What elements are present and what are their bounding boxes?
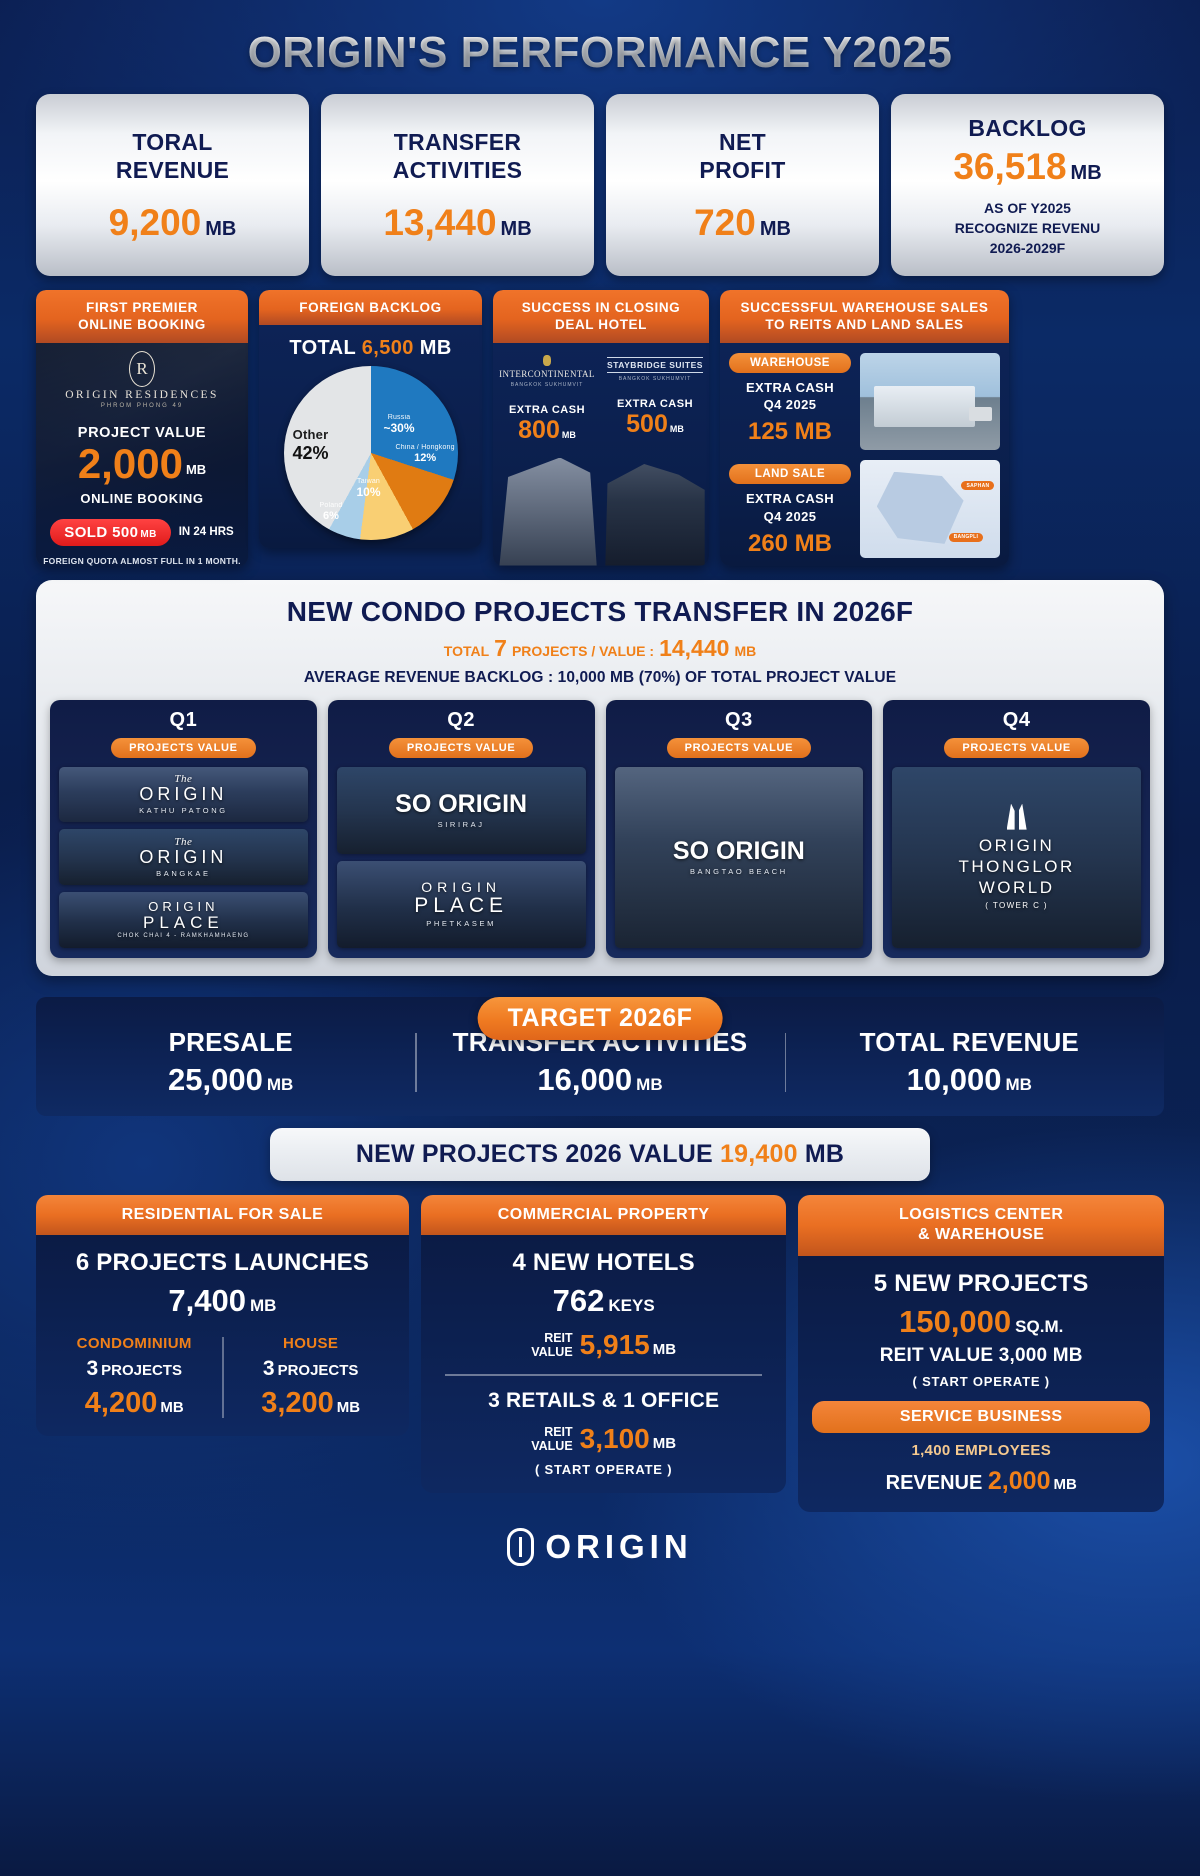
origin-logo-icon <box>507 1528 534 1566</box>
residential-house: HOUSE 3PROJECTS 3,200MB <box>222 1335 398 1420</box>
target-label: TOTAL REVENUE <box>785 1027 1154 1058</box>
logistics-number: 150,000 <box>899 1304 1011 1339</box>
segment-label: HOUSE <box>222 1335 398 1352</box>
condo-total-projects: 7 <box>494 635 507 661</box>
column-body: 5 NEW PROJECTS 150,000SQ.M. REIT VALUE 3… <box>798 1256 1164 1512</box>
project-main-name: SO ORIGIN <box>673 838 805 864</box>
quarter-title: Q4 <box>892 709 1141 732</box>
footer-brand-name: ORIGIN <box>545 1528 692 1566</box>
target-unit: MB <box>267 1075 293 1094</box>
project-image-list: ORIGIN THONGLOR WORLD ( TOWER C ) <box>892 767 1141 948</box>
hotel-building-photo <box>601 458 709 566</box>
pie-total-unit: MB <box>420 337 452 359</box>
pie-label-russia: Russia ~30% <box>384 414 415 435</box>
kpi-number: 9,200 <box>109 202 202 243</box>
kpi-card-transfer-activities: TRANSFER ACTIVITIES 13,440MB <box>321 94 594 276</box>
residential-unit: MB <box>250 1296 276 1315</box>
kpi-label-line1: TORAL <box>44 128 301 156</box>
logo-crest-icon <box>543 355 551 366</box>
reit-label: REIT VALUE <box>531 1331 572 1359</box>
column-logistics-warehouse: LOGISTICS CENTER & WAREHOUSE 5 NEW PROJE… <box>798 1195 1164 1513</box>
pie-label-taiwan: Taiwan 10% <box>357 478 381 499</box>
extra-cash-number: 800 <box>518 416 560 444</box>
card-header: FIRST PREMIER ONLINE BOOKING <box>36 290 248 343</box>
segment-value: 3,200MB <box>222 1387 398 1420</box>
project-name: SO ORIGIN BANGTAO BEACH <box>673 838 805 875</box>
kpi-sub-line2: RECOGNIZE REVENU <box>899 218 1156 238</box>
quarter-card-q1: Q1 PROJECTS VALUE The ORIGIN KATHU PATON… <box>50 700 317 958</box>
keys-number: 762 <box>553 1283 605 1318</box>
card-footnote: FOREIGN QUOTA ALMOST FULL IN 1 MONTH. <box>36 556 248 566</box>
online-booking-label: ONLINE BOOKING <box>36 491 248 506</box>
target-pill: TARGET 2026F <box>478 997 723 1040</box>
reit-label-line2: VALUE <box>531 1345 572 1359</box>
commercial-main-text: 4 NEW HOTELS <box>431 1249 777 1277</box>
service-revenue: REVENUE 2,000MB <box>808 1467 1154 1496</box>
divider <box>445 1374 763 1376</box>
reit-value: 3,100MB <box>580 1423 676 1455</box>
extra-cash-text: EXTRA CASH <box>729 490 851 508</box>
kpi-label: NET PROFIT <box>614 128 871 184</box>
map-pin-label-2: BANGPLI <box>949 533 984 542</box>
service-revenue-number: 2,000 <box>988 1467 1051 1495</box>
infographic-page: ORIGIN'S PERFORMANCE Y2025 TORAL REVENUE… <box>0 0 1200 1876</box>
banner-text: NEW PROJECTS 2026 VALUE <box>356 1140 713 1168</box>
card-body: ORIGIN RESIDENCES PHROM PHONG 49 PROJECT… <box>36 343 248 566</box>
reit-label-line1: REIT <box>531 1425 572 1439</box>
projects-value-pill[interactable]: PROJECTS VALUE <box>111 738 256 758</box>
origin-mark-icon <box>1006 804 1028 830</box>
project-main-name: ORIGIN <box>139 848 227 867</box>
kpi-row: TORAL REVENUE 9,200MB TRANSFER ACTIVITIE… <box>24 94 1176 276</box>
reit-label: REIT VALUE <box>531 1425 572 1453</box>
kpi-label: BACKLOG <box>899 114 1156 142</box>
warehouse-photos: SAPHAN BANGPLI <box>860 353 1000 558</box>
project-main-name: ORIGIN <box>117 900 249 914</box>
segment-project-word: PROJECTS <box>278 1362 359 1379</box>
project-name: ORIGIN THONGLOR WORLD ( TOWER C ) <box>958 804 1074 911</box>
logistics-main-text: 5 NEW PROJECTS <box>808 1270 1154 1298</box>
project-main-name-3: WORLD <box>958 877 1074 898</box>
target-value: 25,000MB <box>46 1062 415 1098</box>
target-number: 10,000 <box>907 1062 1002 1097</box>
project-name: The ORIGIN BANGKAE <box>139 836 227 878</box>
column-residential-for-sale: RESIDENTIAL FOR SALE 6 PROJECTS LAUNCHES… <box>36 1195 409 1437</box>
commercial-keys: 762KEYS <box>431 1283 777 1319</box>
banner-unit: MB <box>805 1140 844 1168</box>
project-card[interactable]: ORIGIN PLACE CHOK CHAI 4 - RAMKHAMHAENG <box>59 892 308 948</box>
project-location: SIRIRAJ <box>395 820 527 829</box>
residential-split: CONDOMINIUM 3PROJECTS 4,200MB HOUSE 3PRO… <box>46 1335 399 1420</box>
condo-section-subtitle: TOTAL 7 PROJECTS / VALUE : 14,440 MB <box>50 635 1150 662</box>
pie-label-poland: Poland 6% <box>320 502 343 522</box>
warehouse-tag: WAREHOUSE <box>729 353 851 373</box>
service-revenue-unit: MB <box>1053 1476 1076 1493</box>
commercial-reit-hotels: REIT VALUE 5,915MB <box>431 1329 777 1361</box>
extra-cash-period: Q4 2025 <box>729 396 851 414</box>
pie-total-label: TOTAL <box>289 337 355 359</box>
warehouse-block: WAREHOUSE EXTRA CASH Q4 2025 125 MB <box>729 353 851 446</box>
column-header-line2: & WAREHOUSE <box>804 1225 1158 1246</box>
card-header-line2: TO REITS AND LAND SALES <box>726 316 1003 333</box>
target-value: 10,000MB <box>785 1062 1154 1098</box>
residential-value: 7,400MB <box>46 1283 399 1319</box>
kpi-label: TRANSFER ACTIVITIES <box>329 128 586 184</box>
extra-cash-unit: MB <box>670 424 684 434</box>
hotel-intercontinental: INTERCONTINENTAL BANGKOK SUKHUMVIT EXTRA… <box>493 343 601 566</box>
foreign-backlog-pie-chart: Russia ~30% China / Hongkong 12% Taiwan … <box>284 366 458 540</box>
target-value: 16,000MB <box>415 1062 784 1098</box>
map-pin-label-1: SAPHAN <box>961 481 994 490</box>
projects-value-pill[interactable]: PROJECTS VALUE <box>944 738 1089 758</box>
target-column-total-revenue: TOTAL REVENUE 10,000MB <box>785 1027 1154 1098</box>
card-foreign-backlog: FOREIGN BACKLOG TOTAL 6,500 MB Russia ~3… <box>259 290 482 548</box>
kpi-sub-line1: AS OF Y2025 <box>899 198 1156 218</box>
kpi-label-line2: REVENUE <box>44 156 301 184</box>
card-header-line1: SUCCESS IN CLOSING <box>499 299 703 316</box>
commercial-reit-retail: REIT VALUE 3,100MB <box>431 1423 777 1455</box>
condo-backlog-note: AVERAGE REVENUE BACKLOG : 10,000 MB (70%… <box>50 669 1150 687</box>
extra-cash-text: EXTRA CASH <box>729 379 851 397</box>
kpi-card-backlog: BACKLOG 36,518MB AS OF Y2025 RECOGNIZE R… <box>891 94 1164 276</box>
project-main-name: ORIGIN <box>414 880 508 895</box>
sold-timeframe: IN 24 HRS <box>179 526 234 538</box>
hotel-building-photo <box>493 458 601 566</box>
quarter-card-q2: Q2 PROJECTS VALUE SO ORIGIN SIRIRAJ ORIG… <box>328 700 595 958</box>
segment-project-word: PROJECTS <box>101 1362 182 1379</box>
reit-number: 5,915 <box>580 1329 650 1360</box>
project-main-name-2: THONGLOR <box>958 856 1074 877</box>
card-header: SUCCESS IN CLOSING DEAL HOTEL <box>493 290 709 343</box>
kpi-value: 36,518MB <box>899 146 1156 188</box>
segment-unit: MB <box>337 1399 360 1416</box>
card-header: SUCCESSFUL WAREHOUSE SALES TO REITS AND … <box>720 290 1009 343</box>
sold-badge: SOLD 500MB <box>50 519 170 546</box>
warehouse-photo <box>860 353 1000 451</box>
reit-number: 3,100 <box>580 1423 650 1454</box>
project-card[interactable]: ORIGIN THONGLOR WORLD ( TOWER C ) <box>892 767 1141 948</box>
logistics-value: 150,000SQ.M. <box>808 1304 1154 1340</box>
card-header-line2: ONLINE BOOKING <box>42 316 242 333</box>
extra-cash-number: 500 <box>626 410 668 438</box>
banner-value: 19,400 <box>720 1140 798 1168</box>
project-main-name-2: PLACE <box>117 914 249 932</box>
extra-cash-label: EXTRA CASH <box>493 404 601 416</box>
service-business-pill: SERVICE BUSINESS <box>812 1401 1150 1433</box>
card-success-closing-deal-hotel: SUCCESS IN CLOSING DEAL HOTEL INTERCONTI… <box>493 290 709 566</box>
target-section: TARGET 2026F PRESALE 25,000MB TRANSFER A… <box>24 997 1176 1116</box>
project-card[interactable]: SO ORIGIN BANGTAO BEACH <box>615 767 864 948</box>
staybridge-logo-icon: STAYBRIDGE SUITES <box>607 357 703 373</box>
service-employees: 1,400 EMPLOYEES <box>808 1442 1154 1459</box>
project-name: ORIGIN PLACE CHOK CHAI 4 - RAMKHAMHAENG <box>117 900 249 939</box>
column-commercial-property: COMMERCIAL PROPERTY 4 NEW HOTELS 762KEYS… <box>421 1195 787 1493</box>
sold-row: SOLD 500MB IN 24 HRS <box>36 519 248 546</box>
card-body: WAREHOUSE EXTRA CASH Q4 2025 125 MB LAND… <box>720 343 1009 566</box>
target-unit: MB <box>636 1075 662 1094</box>
residential-number: 7,400 <box>168 1283 246 1318</box>
project-value-number: 2,000 <box>78 440 183 487</box>
segment-projects: 3PROJECTS <box>46 1357 222 1381</box>
kpi-label-line2: ACTIVITIES <box>329 156 586 184</box>
reit-label-line2: VALUE <box>531 1439 572 1453</box>
new-condo-projects-section: NEW CONDO PROJECTS TRANSFER IN 2026F TOT… <box>36 580 1164 976</box>
segment-label: CONDOMINIUM <box>46 1335 222 1352</box>
project-location: KATHU PATONG <box>139 806 228 815</box>
logistics-note: ( START OPERATE ) <box>808 1374 1154 1389</box>
pie-total: TOTAL 6,500 MB <box>259 337 482 360</box>
condo-section-title: NEW CONDO PROJECTS TRANSFER IN 2026F <box>50 596 1150 628</box>
extra-cash-value: 500MB <box>601 410 709 439</box>
column-header: COMMERCIAL PROPERTY <box>421 1195 787 1236</box>
footer-logo: ORIGIN <box>24 1528 1176 1566</box>
column-header: LOGISTICS CENTER & WAREHOUSE <box>798 1195 1164 1257</box>
land-sale-value: 260 MB <box>729 530 851 558</box>
kpi-number: 13,440 <box>383 202 496 243</box>
kpi-card-total-revenue: TORAL REVENUE 9,200MB <box>36 94 309 276</box>
project-card[interactable]: The ORIGIN BANGKAE <box>59 829 308 885</box>
extra-cash-label: EXTRA CASH Q4 2025 <box>729 490 851 525</box>
column-body: 4 NEW HOTELS 762KEYS REIT VALUE 5,915MB … <box>421 1235 787 1493</box>
card-header-line2: DEAL HOTEL <box>499 316 703 333</box>
card-body: TOTAL 6,500 MB Russia ~30% China / Hongk… <box>259 325 482 548</box>
quarter-title: Q3 <box>615 709 864 732</box>
pie-total-value: 6,500 <box>362 337 414 359</box>
target-column-presale: PRESALE 25,000MB <box>46 1027 415 1098</box>
kpi-label-line1: TRANSFER <box>329 128 586 156</box>
extra-cash-unit: MB <box>562 430 576 440</box>
hotel-brand-sub: BANGKOK SUKHUMVIT <box>601 376 709 382</box>
segment-project-count: 3 <box>86 1357 98 1380</box>
segment-number: 4,200 <box>85 1387 158 1419</box>
extra-cash-label: EXTRA CASH <box>601 398 709 410</box>
kpi-number: 720 <box>694 202 756 243</box>
kpi-label-line2: PROFIT <box>614 156 871 184</box>
landsale-block: LAND SALE EXTRA CASH Q4 2025 260 MB <box>729 464 851 557</box>
commercial-retails-office: 3 RETAILS & 1 OFFICE <box>431 1389 777 1413</box>
target-number: 16,000 <box>537 1062 632 1097</box>
quarter-card-row: Q1 PROJECTS VALUE The ORIGIN KATHU PATON… <box>50 700 1150 958</box>
kpi-subtext: AS OF Y2025 RECOGNIZE REVENU 2026-2029F <box>899 198 1156 259</box>
commercial-note: ( START OPERATE ) <box>431 1462 777 1477</box>
extra-cash-value: 800MB <box>493 416 601 445</box>
card-warehouse-reits-land-sales: SUCCESSFUL WAREHOUSE SALES TO REITS AND … <box>720 290 1009 566</box>
card-body: INTERCONTINENTAL BANGKOK SUKHUMVIT EXTRA… <box>493 343 709 566</box>
reit-unit: MB <box>653 1435 676 1452</box>
project-main-name: ORIGIN <box>139 785 228 804</box>
brand-name: ORIGIN RESIDENCES <box>36 389 248 401</box>
page-title: ORIGIN'S PERFORMANCE Y2025 <box>24 0 1176 78</box>
kpi-label-line1: NET <box>614 128 871 156</box>
warehouse-value: 125 MB <box>729 418 851 446</box>
segment-value: 4,200MB <box>46 1387 222 1420</box>
reit-unit: MB <box>653 1341 676 1358</box>
project-name: SO ORIGIN SIRIRAJ <box>395 791 527 828</box>
warehouse-stats: WAREHOUSE EXTRA CASH Q4 2025 125 MB LAND… <box>729 353 851 558</box>
card-header-line1: SUCCESSFUL WAREHOUSE SALES <box>726 299 1003 316</box>
condo-total-label: TOTAL <box>444 643 489 659</box>
project-card[interactable]: SO ORIGIN SIRIRAJ <box>337 767 586 854</box>
project-location: PHETKASEM <box>414 919 508 928</box>
sold-badge-label: SOLD 500 <box>64 524 138 541</box>
bottom-column-row: RESIDENTIAL FOR SALE 6 PROJECTS LAUNCHES… <box>36 1195 1164 1513</box>
project-main-name-2: PLACE <box>414 895 508 917</box>
kpi-sub-line3: 2026-2029F <box>899 238 1156 258</box>
brand-sublabel: PHROM PHONG 49 <box>36 403 248 409</box>
target-number: 25,000 <box>168 1062 263 1097</box>
new-projects-value-banner: NEW PROJECTS 2026 VALUE 19,400 MB <box>270 1128 930 1181</box>
condo-projects-word: PROJECTS / VALUE : <box>512 643 654 659</box>
project-main-name: SO ORIGIN <box>395 791 527 817</box>
segment-number: 3,200 <box>261 1387 334 1419</box>
project-image-list: The ORIGIN KATHU PATONG The ORIGIN BANGK… <box>59 767 308 948</box>
quarter-title: Q1 <box>59 709 308 732</box>
hotel-brand-name: INTERCONTINENTAL <box>499 369 595 379</box>
segment-projects: 3PROJECTS <box>222 1357 398 1381</box>
reit-value: 5,915MB <box>580 1329 676 1361</box>
land-sale-tag: LAND SALE <box>729 464 851 484</box>
service-revenue-label: REVENUE <box>886 1472 983 1494</box>
project-location: BANGKAE <box>139 869 227 878</box>
project-image-list: SO ORIGIN BANGTAO BEACH <box>615 767 864 948</box>
column-header-line1: LOGISTICS CENTER <box>804 1205 1158 1226</box>
project-tower-label: ( TOWER C ) <box>958 901 1074 910</box>
sold-badge-unit: MB <box>140 529 156 540</box>
project-card[interactable]: The ORIGIN KATHU PATONG <box>59 767 308 823</box>
hotel-brand-sub: BANGKOK SUKHUMVIT <box>493 382 601 388</box>
project-name: The ORIGIN KATHU PATONG <box>139 773 228 815</box>
project-location: BANGTAO BEACH <box>673 867 805 876</box>
project-value-label: PROJECT VALUE <box>36 425 248 441</box>
kpi-value: 9,200MB <box>44 202 301 244</box>
kpi-card-net-profit: NET PROFIT 720MB <box>606 94 879 276</box>
quarter-title: Q2 <box>337 709 586 732</box>
project-card[interactable]: ORIGIN PLACE PHETKASEM <box>337 861 586 948</box>
residential-main-text: 6 PROJECTS LAUNCHES <box>46 1249 399 1277</box>
condo-total-unit: MB <box>734 643 756 659</box>
project-location: CHOK CHAI 4 - RAMKHAMHAENG <box>117 933 249 939</box>
kpi-label: TORAL REVENUE <box>44 128 301 184</box>
kpi-value: 720MB <box>614 202 871 244</box>
project-image-list: SO ORIGIN SIRIRAJ ORIGIN PLACE PHETKASEM <box>337 767 586 948</box>
residential-condominium: CONDOMINIUM 3PROJECTS 4,200MB <box>46 1335 222 1420</box>
project-value-unit: MB <box>186 462 206 477</box>
kpi-unit: MB <box>205 218 236 240</box>
kpi-unit: MB <box>501 218 532 240</box>
segment-project-count: 3 <box>263 1357 275 1380</box>
segment-unit: MB <box>160 1399 183 1416</box>
projects-value-pill[interactable]: PROJECTS VALUE <box>389 738 534 758</box>
column-header: RESIDENTIAL FOR SALE <box>36 1195 409 1236</box>
project-name: ORIGIN PLACE PHETKASEM <box>414 880 508 928</box>
reit-label-line1: REIT <box>531 1331 572 1345</box>
card-header: FOREIGN BACKLOG <box>259 290 482 325</box>
target-unit: MB <box>1006 1075 1032 1094</box>
pie-label-other: Other 42% <box>293 428 329 463</box>
card-first-premier-online-booking: FIRST PREMIER ONLINE BOOKING ORIGIN RESI… <box>36 290 248 566</box>
project-value: 2,000MB <box>36 443 248 485</box>
project-main-name: ORIGIN <box>958 835 1074 856</box>
kpi-unit: MB <box>1071 162 1102 184</box>
keys-word: KEYS <box>608 1296 654 1315</box>
land-map-photo: SAPHAN BANGPLI <box>860 460 1000 558</box>
origin-residences-monogram-icon <box>129 351 155 387</box>
column-body: 6 PROJECTS LAUNCHES 7,400MB CONDOMINIUM … <box>36 1235 409 1436</box>
quarter-card-q4: Q4 PROJECTS VALUE ORIGIN THONGLOR WORLD … <box>883 700 1150 958</box>
logistics-unit: SQ.M. <box>1015 1317 1063 1336</box>
card-header-line1: FIRST PREMIER <box>42 299 242 316</box>
kpi-value: 13,440MB <box>329 202 586 244</box>
extra-cash-label: EXTRA CASH Q4 2025 <box>729 379 851 414</box>
feature-card-row: FIRST PREMIER ONLINE BOOKING ORIGIN RESI… <box>24 290 1176 566</box>
logistics-reit-line: REIT VALUE 3,000 MB <box>808 1345 1154 1367</box>
pie-label-china-hongkong: China / Hongkong 12% <box>396 444 455 464</box>
kpi-number: 36,518 <box>953 146 1066 187</box>
projects-value-pill[interactable]: PROJECTS VALUE <box>667 738 812 758</box>
extra-cash-period: Q4 2025 <box>729 508 851 526</box>
intercontinental-logo-icon: INTERCONTINENTAL <box>493 355 601 379</box>
kpi-unit: MB <box>760 218 791 240</box>
target-label: PRESALE <box>46 1027 415 1058</box>
quarter-card-q3: Q3 PROJECTS VALUE SO ORIGIN BANGTAO BEAC… <box>606 700 873 958</box>
condo-total-value: 14,440 <box>659 635 729 661</box>
hotel-staybridge-suites: STAYBRIDGE SUITES BANGKOK SUKHUMVIT EXTR… <box>601 343 709 566</box>
